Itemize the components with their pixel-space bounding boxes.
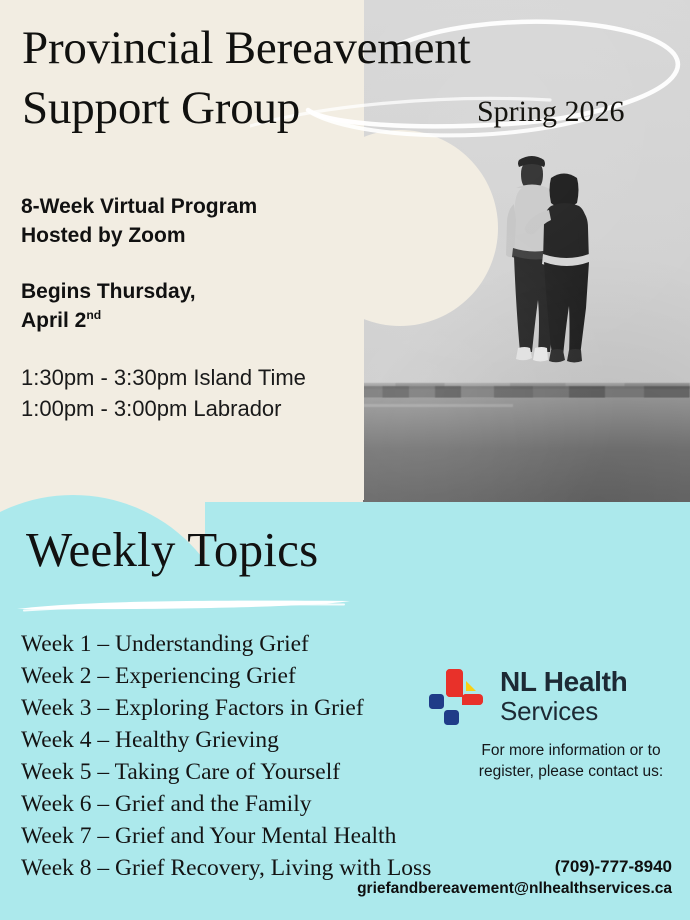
contact-lead-line-1: For more information or to [456, 740, 686, 761]
start-date-line-1: Begins Thursday, [21, 278, 361, 307]
spacer [21, 335, 361, 363]
poster-canvas: Provincial Bereavement Support Group Spr… [0, 0, 690, 920]
org-name: NL Health Services [500, 668, 627, 727]
weekly-topics-heading: Weekly Topics [26, 521, 318, 578]
list-item: Week 1 – Understanding Grief [21, 628, 491, 660]
contact-phone[interactable]: (709)-777-8940 [0, 857, 672, 877]
contact-lead-line-2: register, please contact us: [456, 761, 686, 782]
org-name-line-2: Services [500, 696, 627, 727]
list-item: Week 3 – Exploring Factors in Grief [21, 692, 491, 724]
start-ordinal-suffix: nd [86, 308, 101, 322]
time-labrador: 1:00pm - 3:00pm Labrador [21, 394, 361, 425]
weekly-topics-list: Week 1 – Understanding Grief Week 2 – Ex… [21, 628, 491, 885]
start-month-day: April 2 [21, 309, 86, 332]
nl-health-services-logo-icon [428, 668, 490, 730]
season-label: Spring 2026 [477, 95, 625, 129]
list-item: Week 2 – Experiencing Grief [21, 660, 491, 692]
list-item: Week 5 – Taking Care of Yourself [21, 756, 491, 788]
list-item: Week 7 – Grief and Your Mental Health [21, 820, 491, 852]
list-item: Week 4 – Healthy Grieving [21, 724, 491, 756]
spacer [21, 250, 361, 278]
start-date-line-2: April 2nd [21, 307, 361, 336]
couple-silhouette-icon [491, 152, 601, 407]
time-island: 1:30pm - 3:30pm Island Time [21, 363, 361, 394]
program-format-line-2: Hosted by Zoom [21, 222, 361, 251]
org-name-line-1: NL Health [500, 668, 627, 696]
list-item: Week 6 – Grief and the Family [21, 788, 491, 820]
contact-email[interactable]: griefandbereavement@nlhealthservices.ca [0, 880, 672, 898]
program-details: 8-Week Virtual Program Hosted by Zoom Be… [21, 193, 361, 425]
title-line-1: Provincial Bereavement [22, 18, 622, 78]
program-format-line-1: 8-Week Virtual Program [21, 193, 361, 222]
contact-lead-text: For more information or to register, ple… [456, 740, 686, 783]
brush-underline-decoration [14, 598, 354, 614]
